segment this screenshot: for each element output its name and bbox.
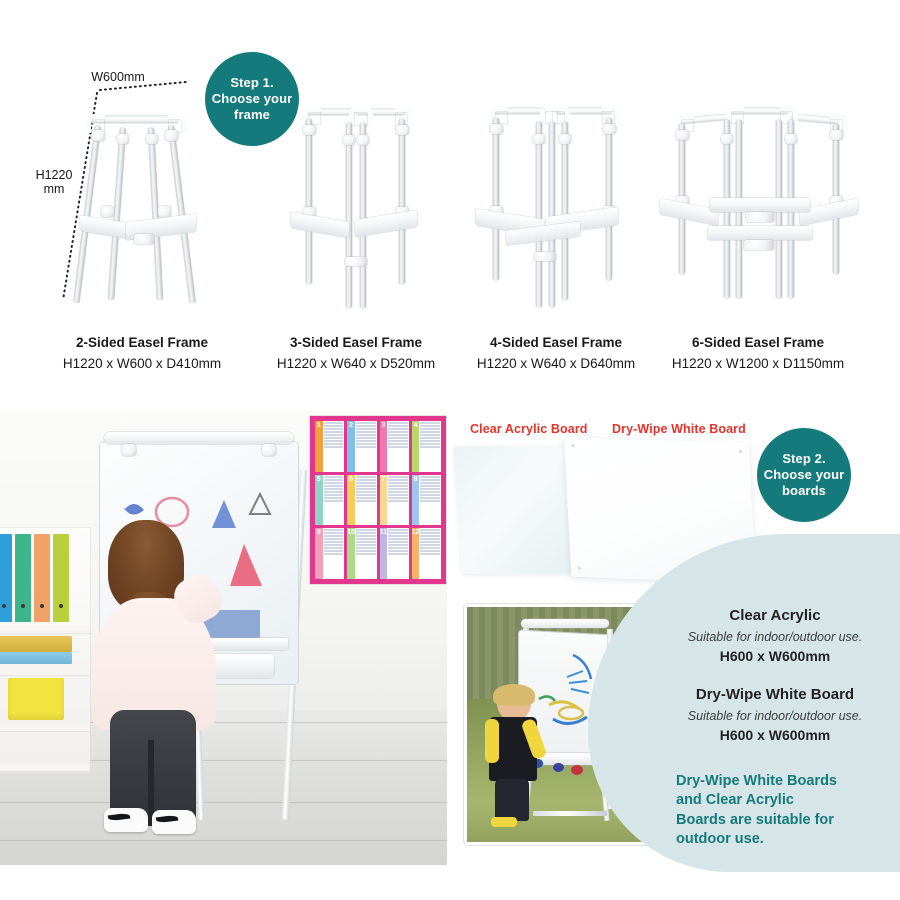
outdoor-note-line-3: Boards are suitable for (676, 811, 881, 830)
infographic-canvas: Step 1. Choose your frame W600mm H1220 m… (0, 0, 900, 900)
spec-suitability: Suitable for indoor/outdoor use. (650, 628, 900, 647)
poster-table-cell: 5 (315, 475, 344, 526)
poster-table-number: 11 (380, 528, 388, 579)
frame-caption-3-sided: 3-Sided Easel Frame H1220 x W640 x D520m… (262, 333, 450, 375)
outdoor-use-note: Dry-Wipe White Boards and Clear Acrylic … (676, 772, 881, 850)
frame-name: 6-Sided Easel Frame (658, 333, 858, 354)
poster-table-rows (323, 475, 345, 526)
poster-table-cell: 11 (380, 528, 409, 579)
poster-table-rows (387, 475, 409, 526)
poster-table-number: 1 (315, 421, 323, 472)
clear-acrylic-board-label: Clear Acrylic Board (470, 422, 587, 436)
frame-size: H1220 x W640 x D640mm (462, 354, 650, 375)
photo-girl-at-easel-indoors: 123456789101112 (0, 410, 447, 865)
frame-caption-4-sided: 4-Sided Easel Frame H1220 x W640 x D640m… (462, 333, 650, 375)
poster-table-cell: 9 (315, 528, 344, 579)
step-1-badge: Step 1. Choose your frame (205, 52, 299, 146)
poster-table-rows (387, 528, 409, 579)
spec-name: Clear Acrylic (650, 605, 900, 628)
frame-illustration-6-sided (650, 90, 865, 312)
poster-table-rows (323, 421, 345, 472)
frame-tray (710, 198, 810, 212)
spec-size: H600 x W600mm (650, 725, 900, 746)
poster-table-number: 5 (315, 475, 323, 526)
poster-table-cell: 3 (380, 421, 409, 472)
frame-name: 4-Sided Easel Frame (462, 333, 650, 354)
poster-table-number: 10 (347, 528, 355, 579)
frame-tray (291, 212, 349, 238)
poster-table-rows (419, 528, 441, 579)
poster-table-rows (355, 528, 377, 579)
poster-table-number: 4 (412, 421, 420, 472)
poster-table-cell: 4 (412, 421, 441, 472)
frame-tray (708, 226, 812, 240)
child-shoe (104, 808, 148, 832)
poster-table-number: 3 (380, 421, 388, 472)
step-2-line-2: Choose your (764, 467, 845, 483)
frame-caption-2-sided: 2-Sided Easel Frame H1220 x W600 x D410m… (58, 333, 226, 375)
poster-table-cell: 10 (347, 528, 376, 579)
spec-size: H600 x W600mm (650, 646, 900, 667)
outdoor-note-line-1: Dry-Wipe White Boards (676, 772, 881, 791)
frame-illustration-2-sided (68, 108, 208, 308)
child-left (485, 687, 549, 827)
step-2-badge: Step 2. Choose your boards (757, 428, 851, 522)
poster-table-rows (323, 528, 345, 579)
frame-size: H1220 x W600 x D410mm (58, 354, 226, 375)
step-2-line-1: Step 2. (782, 451, 825, 467)
poster-table-cell: 6 (347, 475, 376, 526)
child-shoe (152, 810, 196, 834)
outdoor-note-line-2: and Clear Acrylic (676, 791, 881, 810)
frame-size: H1220 x W640 x D520mm (262, 354, 450, 375)
poster-table-cell: 12 (412, 528, 441, 579)
step-1-line-1: Step 1. (230, 75, 273, 91)
frame-illustration-3-sided (287, 95, 437, 310)
step-2-line-3: boards (782, 483, 826, 499)
frame-name: 2-Sided Easel Frame (58, 333, 226, 354)
poster-table-cell: 2 (347, 421, 376, 472)
dry-wipe-white-board-label: Dry-Wipe White Board (612, 422, 746, 436)
poster-table-rows (419, 421, 441, 472)
poster-table-rows (419, 475, 441, 526)
poster-table-rows (355, 421, 377, 472)
times-tables-poster: 123456789101112 (310, 416, 446, 584)
shelving-unit (0, 528, 90, 773)
spec-dry-wipe-white-board: Dry-Wipe White Board Suitable for indoor… (650, 684, 900, 746)
poster-table-rows (387, 421, 409, 472)
spec-clear-acrylic: Clear Acrylic Suitable for indoor/outdoo… (650, 605, 900, 667)
frame-illustration-4-sided (470, 92, 645, 310)
spec-name: Dry-Wipe White Board (650, 684, 900, 707)
poster-table-number: 8 (412, 475, 420, 526)
outdoor-note-line-4: outdoor use. (676, 830, 881, 849)
frame-size: H1220 x W1200 x D1150mm (658, 354, 858, 375)
step-1-line-3: frame (234, 107, 270, 123)
poster-table-cell: 1 (315, 421, 344, 472)
poster-table-number: 7 (380, 475, 388, 526)
frame-name: 3-Sided Easel Frame (262, 333, 450, 354)
poster-table-number: 6 (347, 475, 355, 526)
poster-table-number: 9 (315, 528, 323, 579)
frame-caption-6-sided: 6-Sided Easel Frame H1220 x W1200 x D115… (658, 333, 858, 375)
spec-suitability: Suitable for indoor/outdoor use. (650, 707, 900, 726)
poster-table-number: 12 (412, 528, 420, 579)
poster-table-cell: 7 (380, 475, 409, 526)
poster-table-cell: 8 (412, 475, 441, 526)
poster-table-number: 2 (347, 421, 355, 472)
poster-table-rows (355, 475, 377, 526)
step-1-line-2: Choose your (212, 91, 293, 107)
